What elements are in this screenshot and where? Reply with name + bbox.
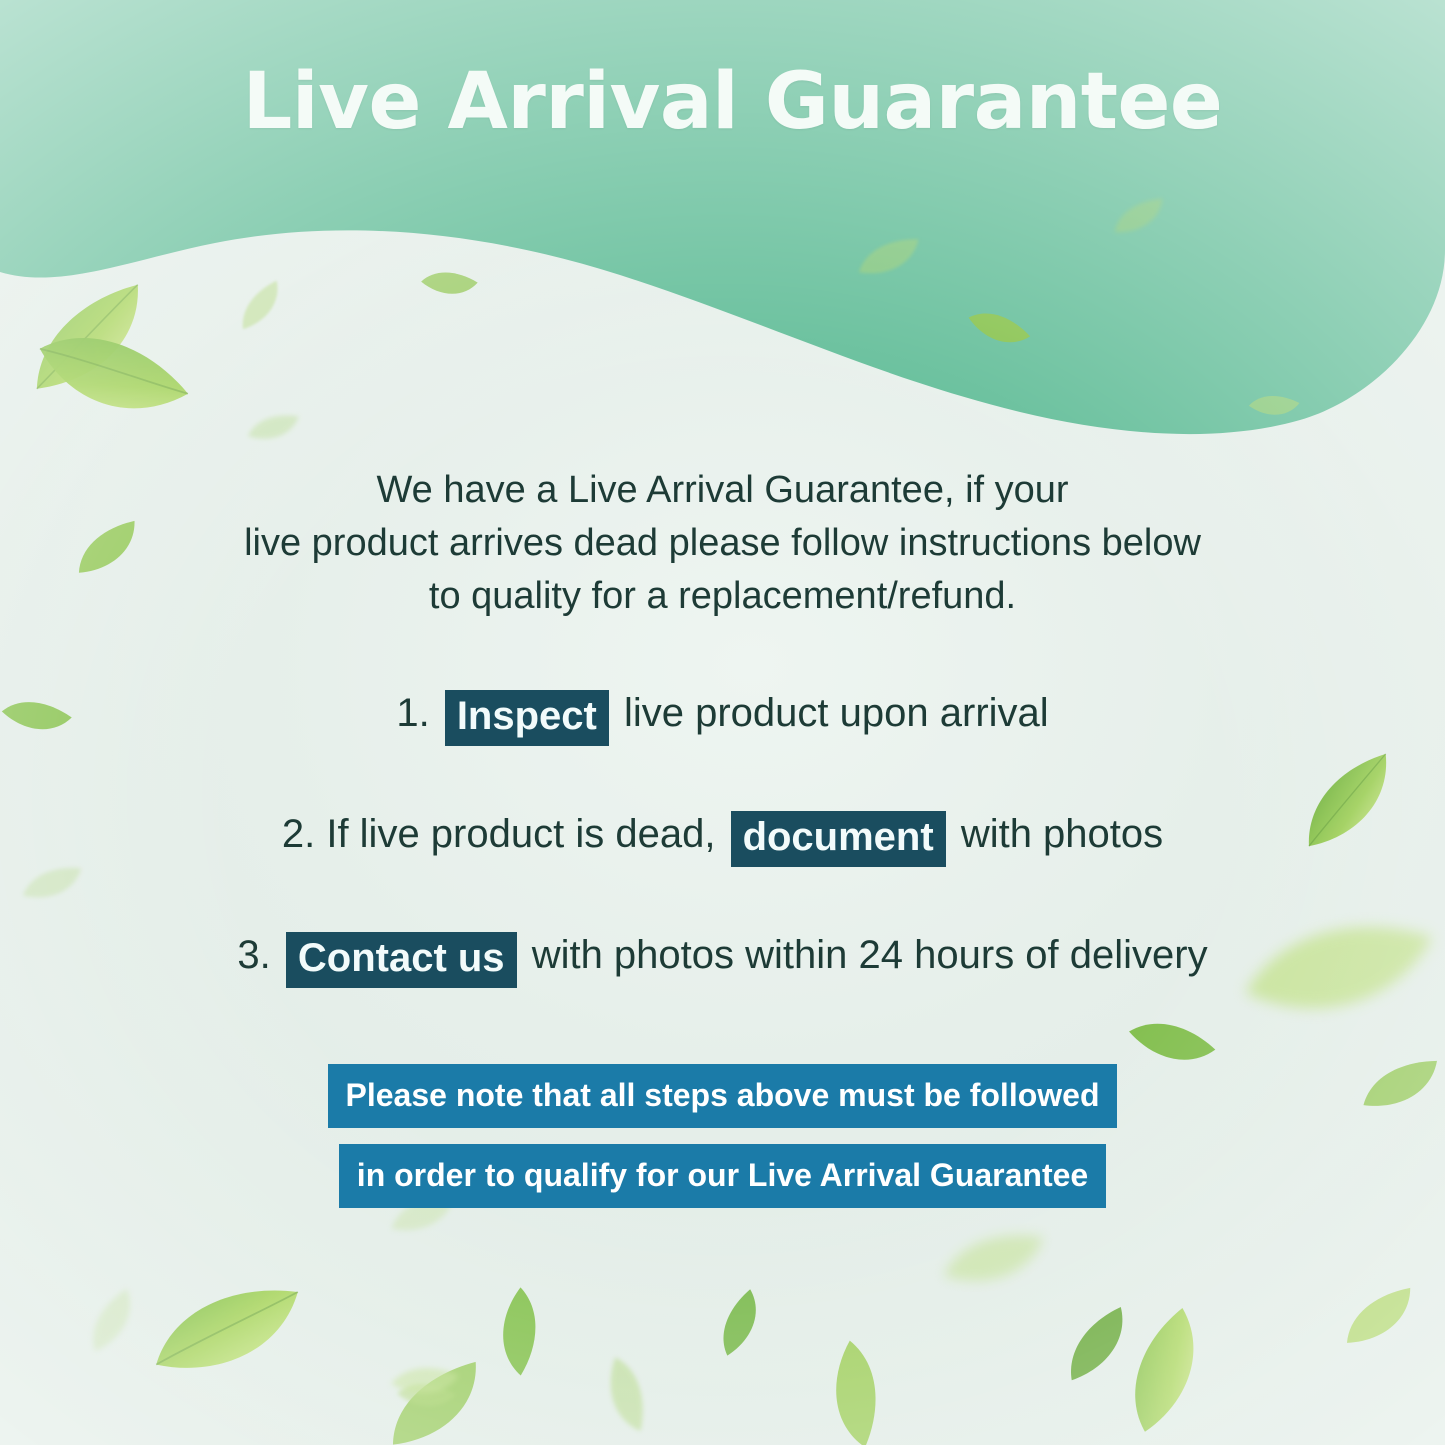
intro-paragraph: We have a Live Arrival Guarantee, if you… xyxy=(0,464,1445,623)
step-2-after-text: with photos xyxy=(961,812,1163,856)
policy-note: Please note that all steps above must be… xyxy=(0,1064,1445,1208)
instruction-step-1: 1. Inspect live product upon arrival xyxy=(0,684,1445,746)
step-2-before-text: If live product is dead, xyxy=(326,812,715,856)
intro-line-1: We have a Live Arrival Guarantee, if you… xyxy=(0,464,1445,517)
step-1-after-text: live product upon arrival xyxy=(624,691,1049,735)
instruction-step-3: 3. Contact us with photos within 24 hour… xyxy=(0,926,1445,988)
content-area: We have a Live Arrival Guarantee, if you… xyxy=(0,0,1445,1445)
step-3-after-text: with photos within 24 hours of delivery xyxy=(532,933,1208,977)
step-3-highlight: Contact us xyxy=(286,932,517,988)
policy-note-row-2: in order to qualify for our Live Arrival… xyxy=(0,1144,1445,1208)
step-2-number: 2. xyxy=(282,812,315,856)
step-3-number: 3. xyxy=(237,933,270,977)
step-1-highlight: Inspect xyxy=(445,690,609,746)
policy-note-row-1: Please note that all steps above must be… xyxy=(0,1064,1445,1128)
intro-line-3: to quality for a replacement/refund. xyxy=(0,570,1445,623)
step-2-highlight: document xyxy=(731,811,946,867)
policy-note-line-2: in order to qualify for our Live Arrival… xyxy=(339,1144,1106,1208)
intro-line-2: live product arrives dead please follow … xyxy=(0,517,1445,570)
instruction-step-2: 2. If live product is dead, document wit… xyxy=(0,805,1445,867)
instruction-steps-list: 1. Inspect live product upon arrival 2. … xyxy=(0,684,1445,988)
step-1-number: 1. xyxy=(396,691,429,735)
policy-note-line-1: Please note that all steps above must be… xyxy=(328,1064,1118,1128)
live-arrival-guarantee-poster: Live Arrival Guarantee We have a Live Ar… xyxy=(0,0,1445,1445)
